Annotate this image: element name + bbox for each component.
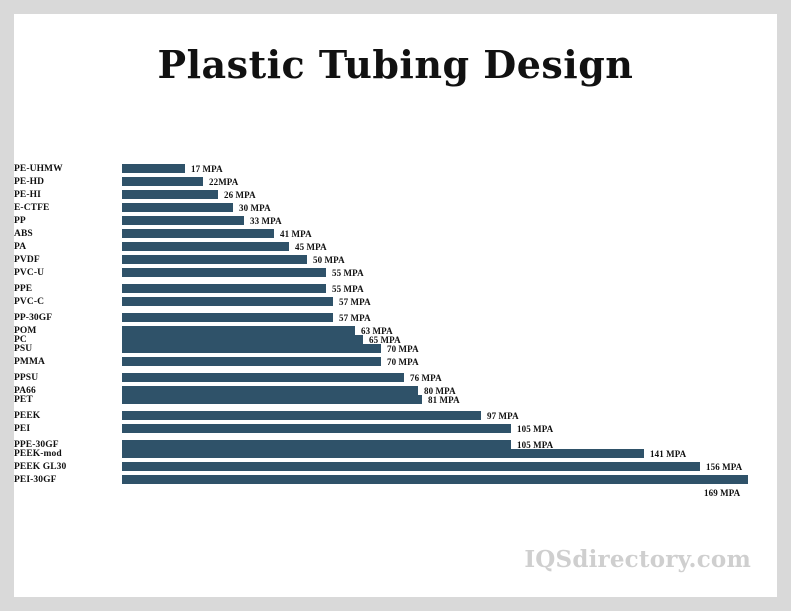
bar-rect	[122, 229, 274, 238]
bar-value-label: 30 MPA	[239, 203, 271, 213]
bar-category-label: PPE	[14, 284, 122, 294]
bar-category-label: PEEK-mod	[14, 449, 122, 459]
bar-category-label: PA	[14, 242, 122, 252]
bar-rect	[122, 373, 404, 382]
bar-value-label: 156 MPA	[706, 462, 742, 472]
bar-value-label: 76 MPA	[410, 373, 442, 383]
bar-value-label: 45 MPA	[295, 242, 327, 252]
bar-category-label: PVC-C	[14, 297, 122, 307]
bar-value-label: 22MPA	[209, 177, 238, 187]
bar-rect	[122, 164, 185, 173]
bar-rect	[122, 177, 203, 186]
bar-category-label: PP-30GF	[14, 313, 122, 323]
bar-rect	[122, 268, 326, 277]
bar-category-label: PET	[14, 395, 122, 405]
bar-rect	[122, 449, 644, 458]
bar-rect	[122, 216, 244, 225]
bar-value-label: 17 MPA	[191, 164, 223, 174]
bar-category-label: PVDF	[14, 255, 122, 265]
bar-value-label: 97 MPA	[487, 411, 519, 421]
bar-rect	[122, 242, 289, 251]
bar-rect	[122, 424, 511, 433]
bar-category-label: E-CTFE	[14, 203, 122, 213]
bar-rect	[122, 344, 381, 353]
bar-rect	[122, 462, 700, 471]
chart-canvas: Plastic Tubing Design PE-UHMW17 MPAPE-HD…	[14, 14, 777, 597]
bar-rect	[122, 190, 218, 199]
bar-value-label: 57 MPA	[339, 297, 371, 307]
bar-rect	[122, 203, 233, 212]
bar-value-label: 105 MPA	[517, 424, 553, 434]
bar-category-label: PE-HI	[14, 190, 122, 200]
bar-category-label: PVC-U	[14, 268, 122, 278]
bar-rect	[122, 395, 422, 404]
bar-rect	[122, 335, 363, 344]
bar-category-label: PE-HD	[14, 177, 122, 187]
bar-value-label: 26 MPA	[224, 190, 256, 200]
bar-value-label: 70 MPA	[387, 357, 419, 367]
bar-category-label: PEI	[14, 424, 122, 434]
bar-rect	[122, 440, 511, 449]
bar-value-label: 33 MPA	[250, 216, 282, 226]
bar-category-label: PE-UHMW	[14, 164, 122, 174]
bar-value-label: 105 MPA	[517, 440, 553, 450]
bar-value-label: 55 MPA	[332, 284, 364, 294]
bar-rect	[122, 297, 333, 306]
bar-rect	[122, 255, 307, 264]
bar-category-label: PEEK	[14, 411, 122, 421]
bar-rect	[122, 284, 326, 293]
bar-value-label: 169 MPA	[704, 488, 740, 498]
bar-rect	[122, 475, 748, 484]
bar-rect	[122, 386, 418, 395]
bar-category-label: PEI-30GF	[14, 475, 122, 485]
bar-rect	[122, 357, 381, 366]
bar-rect	[122, 411, 481, 420]
bar-rect	[122, 313, 333, 322]
watermark-label: IQSdirectory.com	[524, 546, 751, 573]
bar-category-label: PMMA	[14, 357, 122, 367]
bar-value-label: 141 MPA	[650, 449, 686, 459]
bar-value-label: 50 MPA	[313, 255, 345, 265]
bar-value-label: 41 MPA	[280, 229, 312, 239]
bar-value-label: 81 MPA	[428, 395, 460, 405]
bar-value-label: 55 MPA	[332, 268, 364, 278]
chart-image: Plastic Tubing Design PE-UHMW17 MPAPE-HD…	[0, 0, 791, 611]
bar-category-label: PP	[14, 216, 122, 226]
bar-value-label: 70 MPA	[387, 344, 419, 354]
bar-category-label: PEEK GL30	[14, 462, 122, 472]
bar-value-label: 57 MPA	[339, 313, 371, 323]
bar-category-label: ABS	[14, 229, 122, 239]
bar-category-label: PSU	[14, 344, 122, 354]
bar-category-label: PPSU	[14, 373, 122, 383]
bar-chart-plot: PE-UHMW17 MPAPE-HD22MPAPE-HI26 MPAE-CTFE…	[14, 14, 777, 597]
bar-rect	[122, 326, 355, 335]
